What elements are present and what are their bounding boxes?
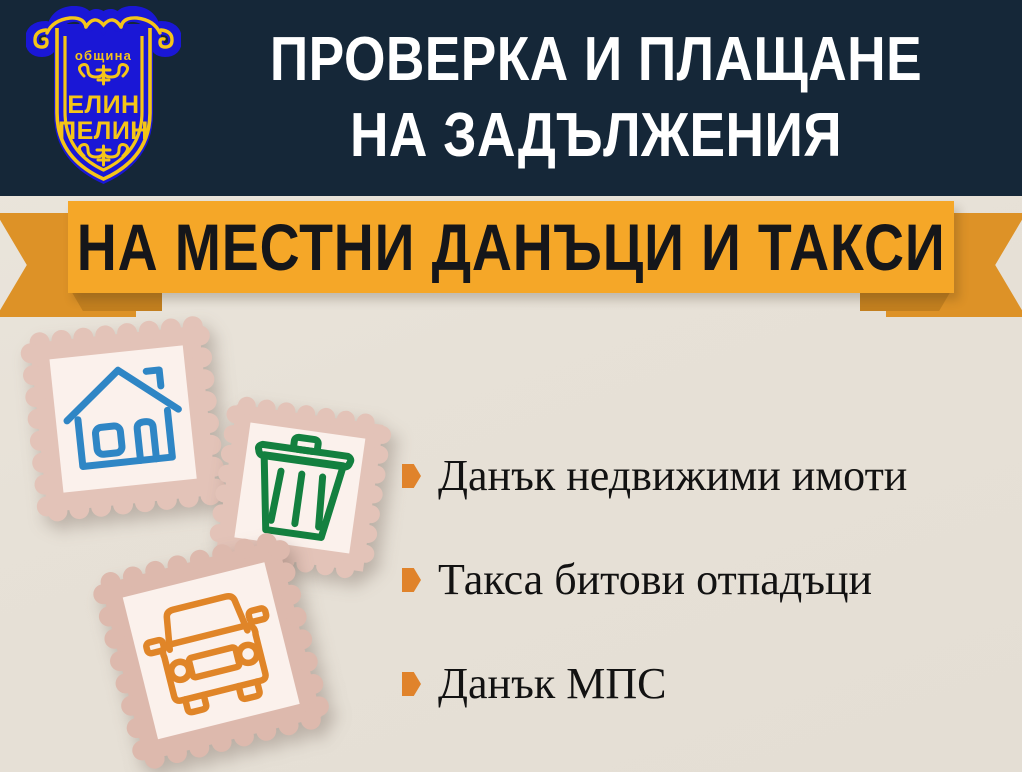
ribbon-label: НА МЕСТНИ ДАНЪЦИ И ТАКСИ: [77, 214, 946, 280]
arrow-bullet-icon: [402, 672, 421, 696]
subtitle-ribbon: НА МЕСТНИ ДАНЪЦИ И ТАКСИ: [0, 196, 1022, 316]
title-line-1: ПРОВЕРКА И ПЛАЩАНЕ: [243, 22, 948, 98]
list-item[interactable]: Данък недвижими имоти: [402, 424, 1012, 528]
stamp-card-vehicle: [98, 536, 323, 764]
tax-types-list: Данък недвижими имоти Такса битови отпад…: [402, 424, 1012, 736]
ribbon-banner: НА МЕСТНИ ДАНЪЦИ И ТАКСИ: [68, 201, 954, 293]
list-item-label: Данък недвижими имоти: [438, 451, 907, 501]
arrow-bullet-icon: [402, 568, 421, 592]
stamp-card-property: [18, 312, 228, 524]
list-item-label: Такса битови отпадъци: [438, 555, 872, 605]
municipality-crest-logo: община ЕЛИН ПЕЛИН: [26, 6, 181, 189]
svg-text:ЕЛИН: ЕЛИН: [67, 91, 139, 119]
arrow-bullet-icon: [402, 464, 421, 488]
svg-text:община: община: [75, 48, 132, 63]
list-item[interactable]: Данък МПС: [402, 632, 1012, 736]
poster-canvas: община ЕЛИН ПЕЛИН ПРОВЕРКА И ПЛАЩАНЕ НА …: [0, 0, 1022, 772]
poster-title: ПРОВЕРКА И ПЛАЩАНЕ НА ЗАДЪЛЖЕНИЯ: [186, 22, 1006, 174]
title-line-2: НА ЗАДЪЛЖЕНИЯ: [243, 98, 948, 174]
list-item[interactable]: Такса битови отпадъци: [402, 528, 1012, 632]
list-item-label: Данък МПС: [438, 659, 666, 709]
svg-text:ПЕЛИН: ПЕЛИН: [58, 117, 149, 145]
